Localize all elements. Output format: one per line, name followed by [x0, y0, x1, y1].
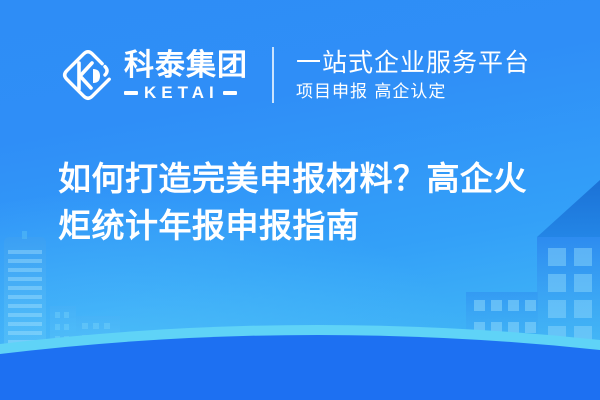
bottom-wave-divider [0, 310, 600, 400]
logo-english-row: KETAI [124, 84, 248, 102]
left-midrise-cluster [50, 306, 120, 356]
article-cover-banner: 科泰集团 KETAI 一站式企业服务平台 项目申报 高企认定 如何打造完美申报材… [0, 0, 600, 400]
dash-right-icon [223, 91, 237, 95]
logo-wordmark: 科泰集团 KETAI [124, 45, 248, 105]
brand-header: 科泰集团 KETAI 一站式企业服务平台 项目申报 高企认定 [58, 42, 530, 108]
tagline-main: 一站式企业服务平台 [296, 48, 530, 78]
brand-tagline: 一站式企业服务平台 项目申报 高企认定 [296, 44, 530, 106]
right-lowrise-building [466, 292, 538, 358]
header-divider [272, 47, 274, 103]
tagline-sub: 项目申报 高企认定 [296, 81, 530, 103]
dash-left-icon [124, 91, 138, 95]
page-title: 如何打造完美申报材料？高企火炬统计年报申报指南 [58, 155, 558, 249]
left-skyscraper [4, 231, 46, 355]
logo-chinese-name: 科泰集团 [124, 49, 248, 83]
ketai-logo-icon [58, 45, 118, 105]
logo-english-name: KETAI [144, 84, 219, 102]
